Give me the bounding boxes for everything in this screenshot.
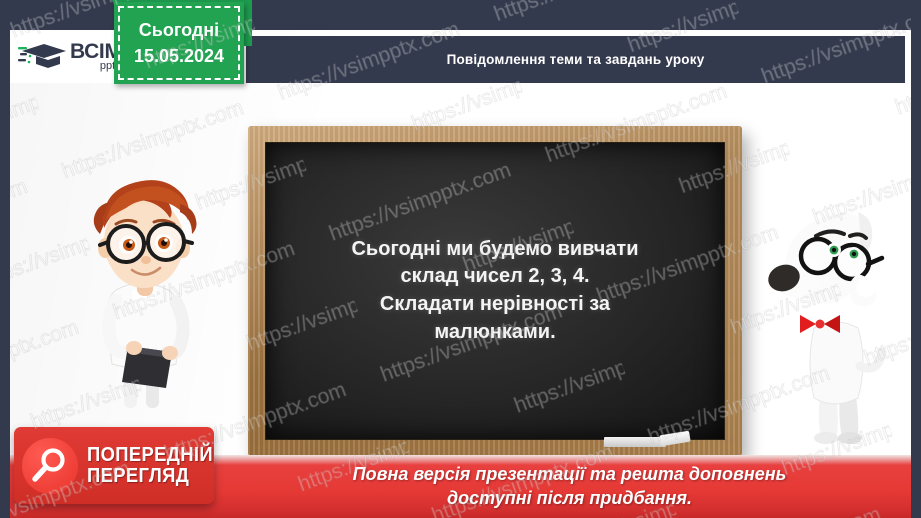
graduation-cap-icon — [18, 40, 68, 74]
purchase-banner-line-2: доступні після придбання. — [232, 487, 907, 511]
presentation-slide: Повідомлення теми та завдань уроку ВСІМ … — [0, 0, 921, 518]
chalk-eraser-icon — [604, 437, 666, 447]
boy-with-glasses-character — [58, 150, 228, 415]
blackboard-line-2: склад чисел 2, 3, 4. — [374, 263, 615, 291]
purchase-banner-text: Повна версія презентації та решта доповн… — [232, 463, 907, 511]
blackboard-line-3: Складати нерівності за — [354, 291, 636, 319]
slide-border-right — [911, 0, 921, 518]
slide-border-left — [0, 0, 10, 518]
blackboard-line-4: малюнками. — [408, 319, 581, 347]
blackboard-surface: Сьогодні ми будемо вивчати склад чисел 2… — [266, 143, 724, 439]
preview-badge-label: ПОПЕРЕДНІЙ ПЕРЕГЛЯД — [87, 445, 224, 486]
preview-badge-line-2: ПЕРЕГЛЯД — [87, 466, 213, 486]
dog-with-glasses-character — [762, 178, 907, 448]
page-title: Повідомлення теми та завдань уроку — [447, 52, 705, 67]
blackboard: Сьогодні ми будемо вивчати склад чисел 2… — [248, 126, 742, 456]
magnifier-icon — [31, 447, 69, 485]
date-badge-label: Сьогодні — [139, 17, 219, 43]
preview-badge-line-1: ПОПЕРЕДНІЙ — [87, 445, 213, 465]
date-badge: Сьогодні 15.05.2024 — [114, 2, 244, 84]
blackboard-line-1: Сьогодні ми будемо вивчати — [325, 236, 664, 264]
preview-badge[interactable]: ПОПЕРЕДНІЙ ПЕРЕГЛЯД — [14, 427, 214, 504]
purchase-banner-line-1: Повна версія презентації та решта доповн… — [232, 463, 907, 487]
preview-badge-circle — [22, 438, 78, 494]
slide-title-bar: Повідомлення теми та завдань уроку — [246, 36, 905, 83]
date-badge-value: 15.05.2024 — [134, 43, 224, 69]
